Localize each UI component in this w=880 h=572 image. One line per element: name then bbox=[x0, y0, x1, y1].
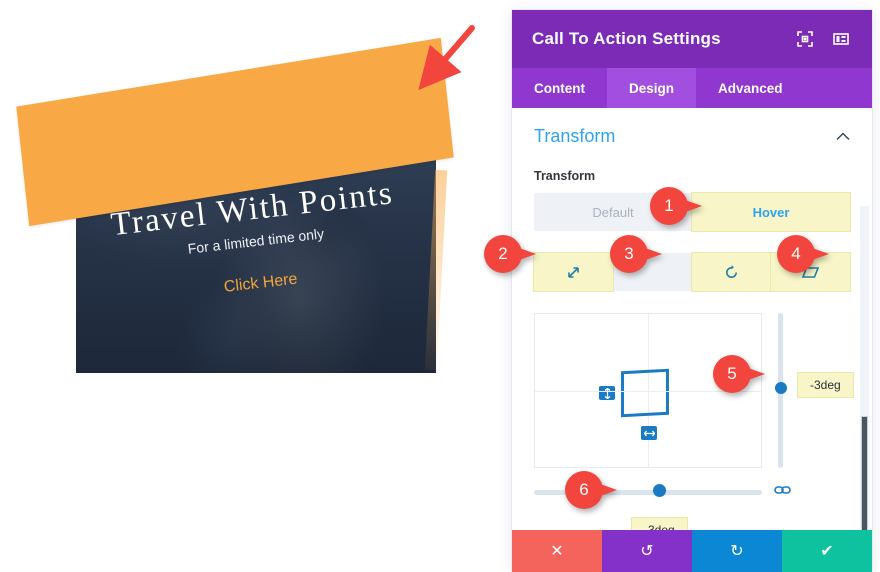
panel-layout-icon[interactable] bbox=[830, 28, 852, 50]
panel-title: Call To Action Settings bbox=[532, 29, 780, 49]
chevron-up-icon[interactable] bbox=[836, 129, 850, 144]
panel-footer: ✕ ↺ ↻ ✔ bbox=[512, 530, 872, 572]
vertical-resize-handle[interactable] bbox=[599, 386, 615, 400]
callout-pin-4: 4 bbox=[777, 235, 829, 273]
panel-tabs: Content Design Advanced bbox=[512, 68, 872, 108]
callout-pin-1: 1 bbox=[650, 187, 702, 225]
save-button[interactable]: ✔ bbox=[782, 530, 872, 572]
tab-design[interactable]: Design bbox=[607, 68, 696, 108]
tab-advanced[interactable]: Advanced bbox=[696, 68, 805, 108]
horizontal-slider-knob[interactable] bbox=[653, 484, 666, 497]
vertical-slider-knob[interactable] bbox=[775, 382, 787, 394]
vertical-value-tooltip: -3deg bbox=[798, 373, 853, 397]
scale-icon[interactable] bbox=[534, 253, 613, 291]
callout-pin-3: 3 bbox=[610, 235, 662, 273]
section-title: Transform bbox=[534, 126, 615, 147]
transform-section-header[interactable]: Transform bbox=[534, 126, 850, 147]
screenshot-root: Travel With Points For a limited time on… bbox=[0, 0, 880, 572]
transform-field-label: Transform bbox=[534, 169, 850, 183]
undo-button[interactable]: ↺ bbox=[602, 530, 692, 572]
panel-header: Call To Action Settings bbox=[512, 10, 872, 68]
red-arrow-icon bbox=[414, 24, 484, 94]
module-preview-area: Travel With Points For a limited time on… bbox=[0, 0, 512, 572]
tab-content[interactable]: Content bbox=[512, 68, 607, 108]
callout-pin-5: 5 bbox=[713, 355, 765, 393]
transform-preview-shape[interactable] bbox=[621, 369, 669, 418]
cancel-button[interactable]: ✕ bbox=[512, 530, 602, 572]
horizontal-value-tooltip: -3deg bbox=[632, 518, 687, 530]
rotate-icon[interactable] bbox=[692, 253, 771, 291]
redo-button[interactable]: ↻ bbox=[692, 530, 782, 572]
callout-pin-6: 6 bbox=[565, 471, 617, 509]
focus-target-icon[interactable] bbox=[794, 28, 816, 50]
chain-link-icon[interactable] bbox=[774, 483, 792, 502]
panel-body: Transform Transform Default Hover bbox=[512, 108, 872, 530]
panel-scrollbar-thumb[interactable] bbox=[861, 416, 868, 530]
toggle-option-hover[interactable]: Hover bbox=[692, 193, 850, 231]
horizontal-resize-handle[interactable] bbox=[641, 426, 657, 440]
callout-pin-2: 2 bbox=[484, 235, 536, 273]
